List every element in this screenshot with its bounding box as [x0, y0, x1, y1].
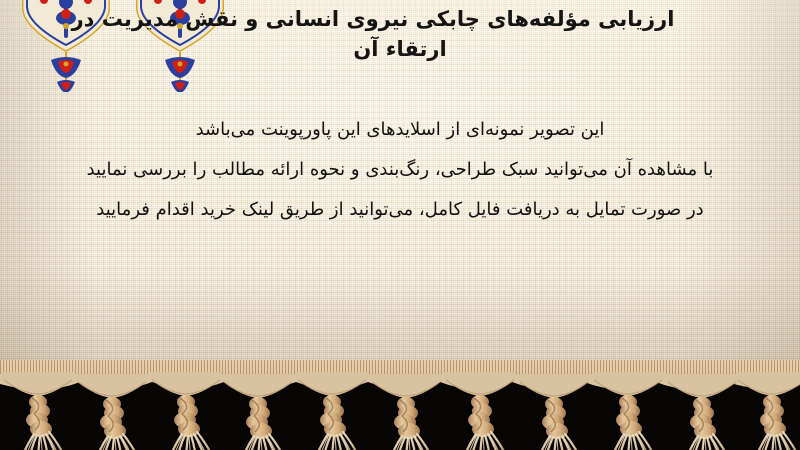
slide-title-line-2: ارتقاء آن [0, 34, 800, 64]
carpet-fringe [0, 360, 800, 450]
body-line-3: در صورت تمایل به دریافت فایل کامل، می‌تو… [0, 190, 800, 230]
fringe-tassels-icon [0, 360, 800, 450]
slide-title: ارزیابی مؤلفه‌های چابکی نیروی انسانی و ن… [0, 4, 800, 64]
body-line-2: با مشاهده آن می‌توانید سبک طراحی، رنگ‌بن… [0, 150, 800, 190]
body-line-1: این تصویر نمونه‌ای از اسلایدهای این پاور… [0, 110, 800, 150]
slide-body: این تصویر نمونه‌ای از اسلایدهای این پاور… [0, 110, 800, 230]
slide-title-line-1: ارزیابی مؤلفه‌های چابکی نیروی انسانی و ن… [0, 4, 800, 34]
slide-canvas: ارزیابی مؤلفه‌های چابکی نیروی انسانی و ن… [0, 0, 800, 450]
